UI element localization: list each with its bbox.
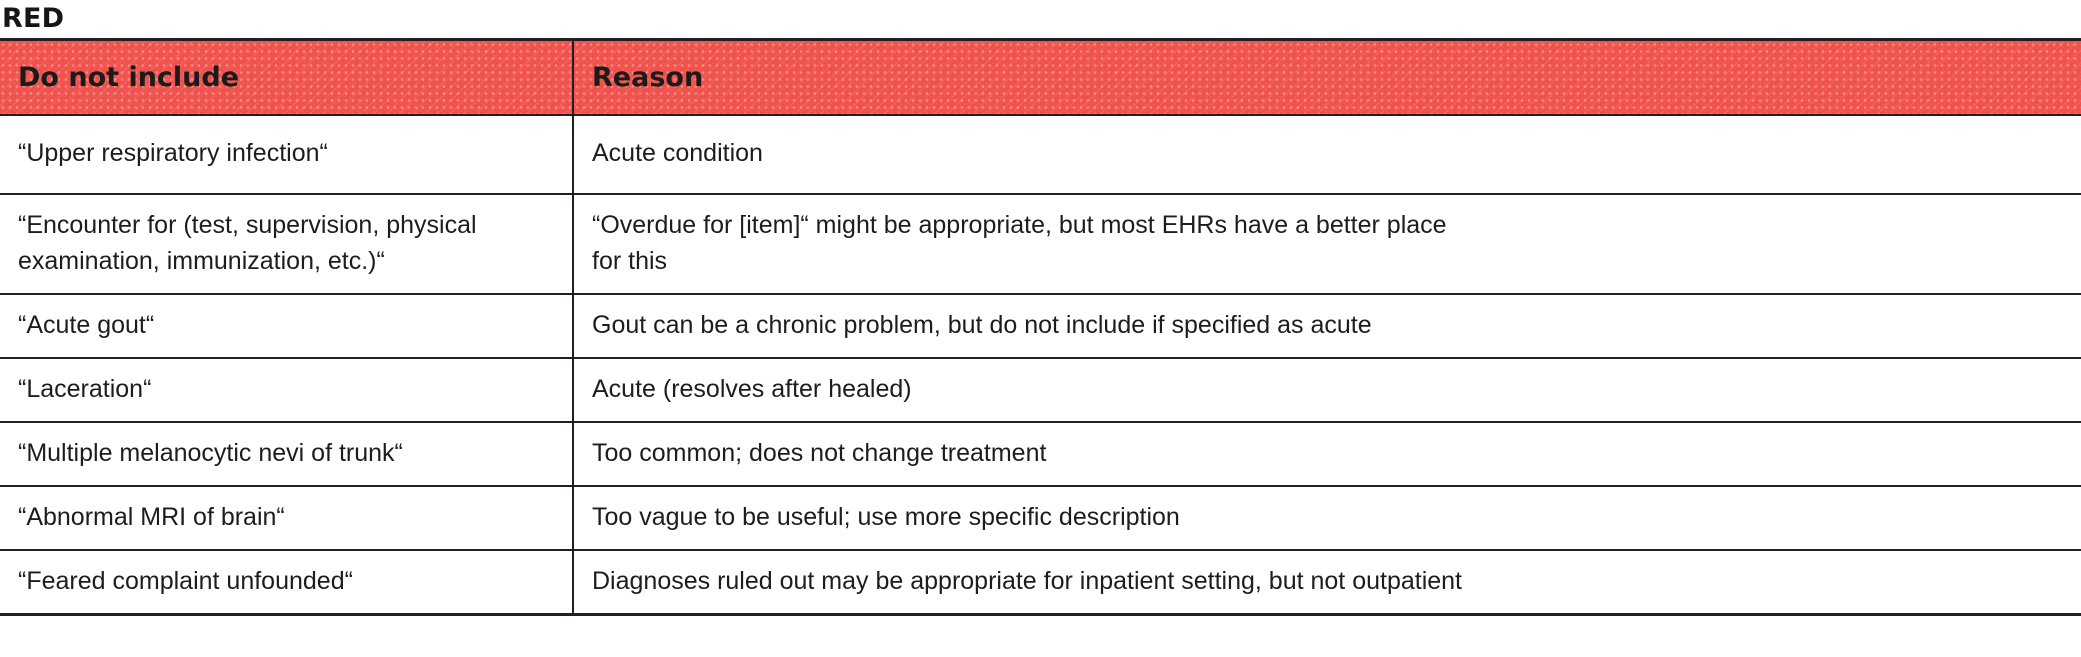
red-do-not-include-table: Do not include Reason “Upper respiratory…: [0, 38, 2081, 616]
cell-do-not-include: “Multiple melanocytic nevi of trunk“: [0, 422, 573, 486]
table-row: “Multiple melanocytic nevi of trunk“ Too…: [0, 422, 2081, 486]
red-do-not-include-table-container: Do not include Reason “Upper respiratory…: [0, 38, 2081, 616]
column-header-do-not-include: Do not include: [0, 40, 573, 115]
table-header-row: Do not include Reason: [0, 40, 2081, 115]
section-title-red: RED: [0, 0, 2081, 38]
cell-do-not-include: “Upper respiratory infection“: [0, 115, 573, 194]
table-body: “Upper respiratory infection“ Acute cond…: [0, 115, 2081, 615]
table-row: “Acute gout“ Gout can be a chronic probl…: [0, 294, 2081, 358]
table-row: “Encounter for (test, supervision, physi…: [0, 194, 2081, 294]
cell-reason: Acute (resolves after healed): [573, 358, 2081, 422]
cell-reason: “Overdue for [item]“ might be appropriat…: [573, 194, 2081, 294]
cell-do-not-include: “Acute gout“: [0, 294, 573, 358]
cell-reason: Too common; does not change treatment: [573, 422, 2081, 486]
cell-reason: Diagnoses ruled out may be appropriate f…: [573, 550, 2081, 615]
page-root: RED Do not include Reason “Upper respira…: [0, 0, 2081, 657]
cell-do-not-include: “Encounter for (test, supervision, physi…: [0, 194, 573, 294]
table-header: Do not include Reason: [0, 40, 2081, 115]
table-row: “Laceration“ Acute (resolves after heale…: [0, 358, 2081, 422]
cell-do-not-include: “Feared complaint unfounded“: [0, 550, 573, 615]
column-header-reason: Reason: [573, 40, 2081, 115]
table-row: “Abnormal MRI of brain“ Too vague to be …: [0, 486, 2081, 550]
cell-reason: Too vague to be useful; use more specifi…: [573, 486, 2081, 550]
cell-reason: Acute condition: [573, 115, 2081, 194]
table-row: “Upper respiratory infection“ Acute cond…: [0, 115, 2081, 194]
cell-do-not-include: “Abnormal MRI of brain“: [0, 486, 573, 550]
cell-reason: Gout can be a chronic problem, but do no…: [573, 294, 2081, 358]
table-row: “Feared complaint unfounded“ Diagnoses r…: [0, 550, 2081, 615]
cell-do-not-include: “Laceration“: [0, 358, 573, 422]
